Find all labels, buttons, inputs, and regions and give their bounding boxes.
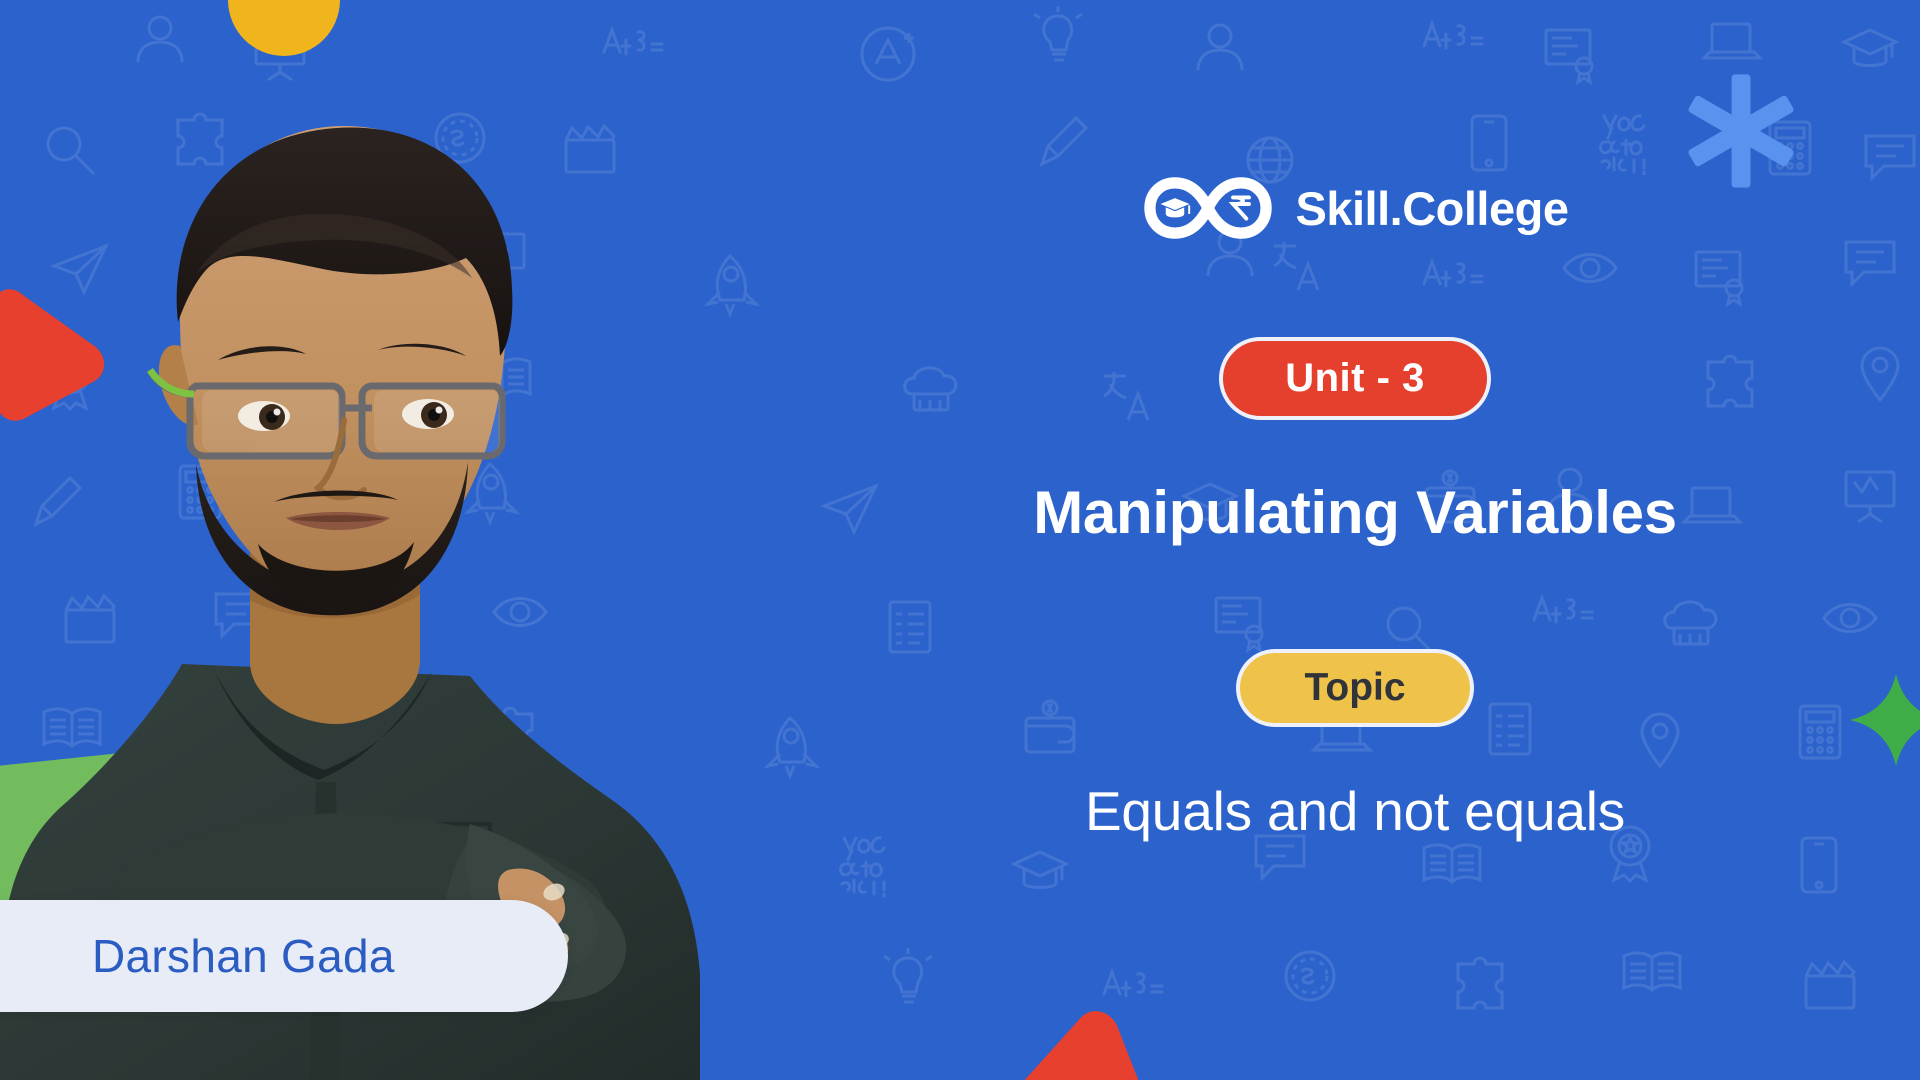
unit-badge: Unit - 3 — [1219, 337, 1491, 420]
content-column: Skill.College Unit - 3 Manipulating Vari… — [790, 0, 1920, 1080]
unit-title: Manipulating Variables — [1033, 478, 1677, 547]
brand-name: Skill.College — [1296, 181, 1569, 236]
yellow-circle-decoration — [228, 0, 340, 56]
infinity-graduation-cap-rupee-icon — [1142, 175, 1274, 241]
brand-lockup: Skill.College — [1142, 175, 1569, 241]
presenter-name: Darshan Gada — [92, 929, 395, 983]
topic-title: Equals and not equals — [1085, 779, 1625, 843]
presenter-name-banner: Darshan Gada — [0, 900, 568, 1012]
topic-badge: Topic — [1236, 649, 1473, 727]
course-thumbnail-slide: Darshan Gada — [0, 0, 1920, 1080]
